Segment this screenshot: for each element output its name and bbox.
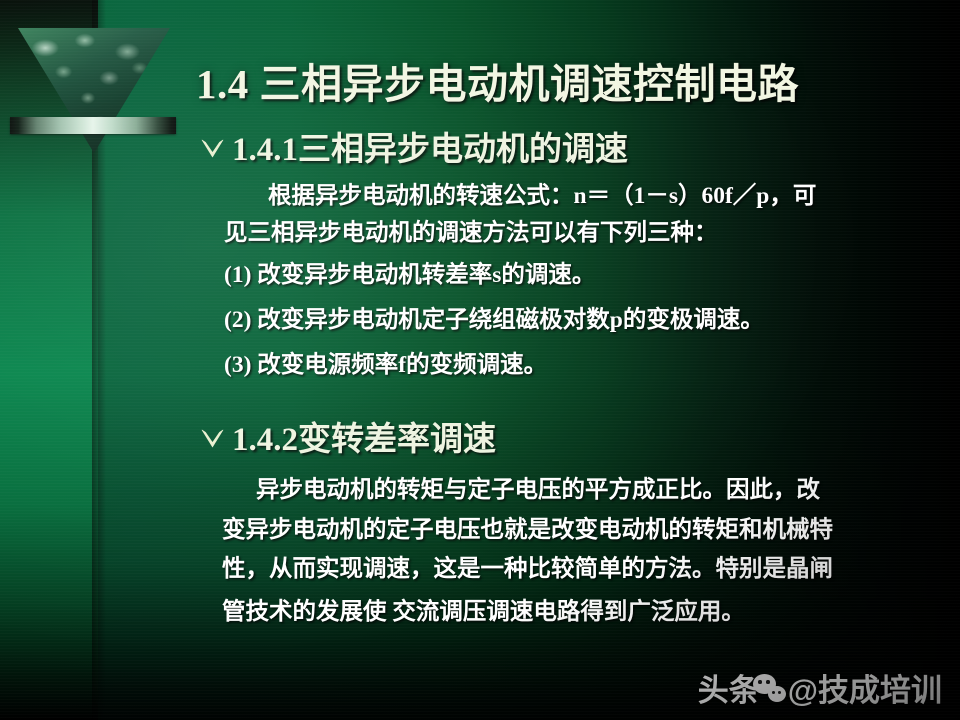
- watermark-prefix: 头条: [698, 674, 760, 708]
- paragraph-2-line-3: 性，从而实现调速，这是一种比较简单的方法。特别是晶闸: [222, 549, 833, 590]
- wechat-bubbles-icon: [753, 674, 793, 708]
- paragraph-1-line-2: 见三相异步电动机的调速方法可以有下列三种：: [224, 213, 718, 254]
- slide-content: 1.4 三相异步电动机调速控制电路 1.4.1三相异步电动机的调速 根据异步电动…: [0, 0, 960, 720]
- paragraph-2-line-2: 变异步电动机的定子电压也就是改变电动机的转矩和机械特: [222, 510, 833, 551]
- chevron-down-icon: [200, 136, 225, 161]
- list-item: (2) 改变异步电动机定子绕组磁极对数p的变极调速。: [224, 300, 764, 334]
- watermark-handle: @技成培训: [788, 674, 942, 708]
- page-title: 1.4 三相异步电动机调速控制电路: [196, 50, 916, 110]
- list-item: (1) 改变异步电动机转差率s的调速。: [224, 255, 595, 289]
- section-heading-1-4-1: 1.4.1三相异步电动机的调速: [200, 122, 628, 170]
- paragraph-2-line-4: 管技术的发展使 交流调压调速电路得到广泛应用。: [222, 592, 745, 633]
- chevron-down-icon: [200, 426, 225, 451]
- section-heading-1-4-1-label: 1.4.1三相异步电动机的调速: [232, 122, 628, 170]
- watermark: 头条 @技成培训: [698, 674, 942, 708]
- section-heading-1-4-2: 1.4.2变转差率调速: [200, 412, 496, 460]
- list-item: (3) 改变电源频率f的变频调速。: [224, 345, 547, 379]
- section-heading-1-4-2-label: 1.4.2变转差率调速: [232, 412, 496, 460]
- paragraph-2-line-1: 异步电动机的转矩与定子电压的平方成正比。因此，改: [256, 470, 820, 511]
- slide-canvas: 1.4 三相异步电动机调速控制电路 1.4.1三相异步电动机的调速 根据异步电动…: [0, 0, 960, 720]
- paragraph-1-line-1: 根据异步电动机的转速公式：n＝（1－s）60f／p，可: [268, 176, 816, 217]
